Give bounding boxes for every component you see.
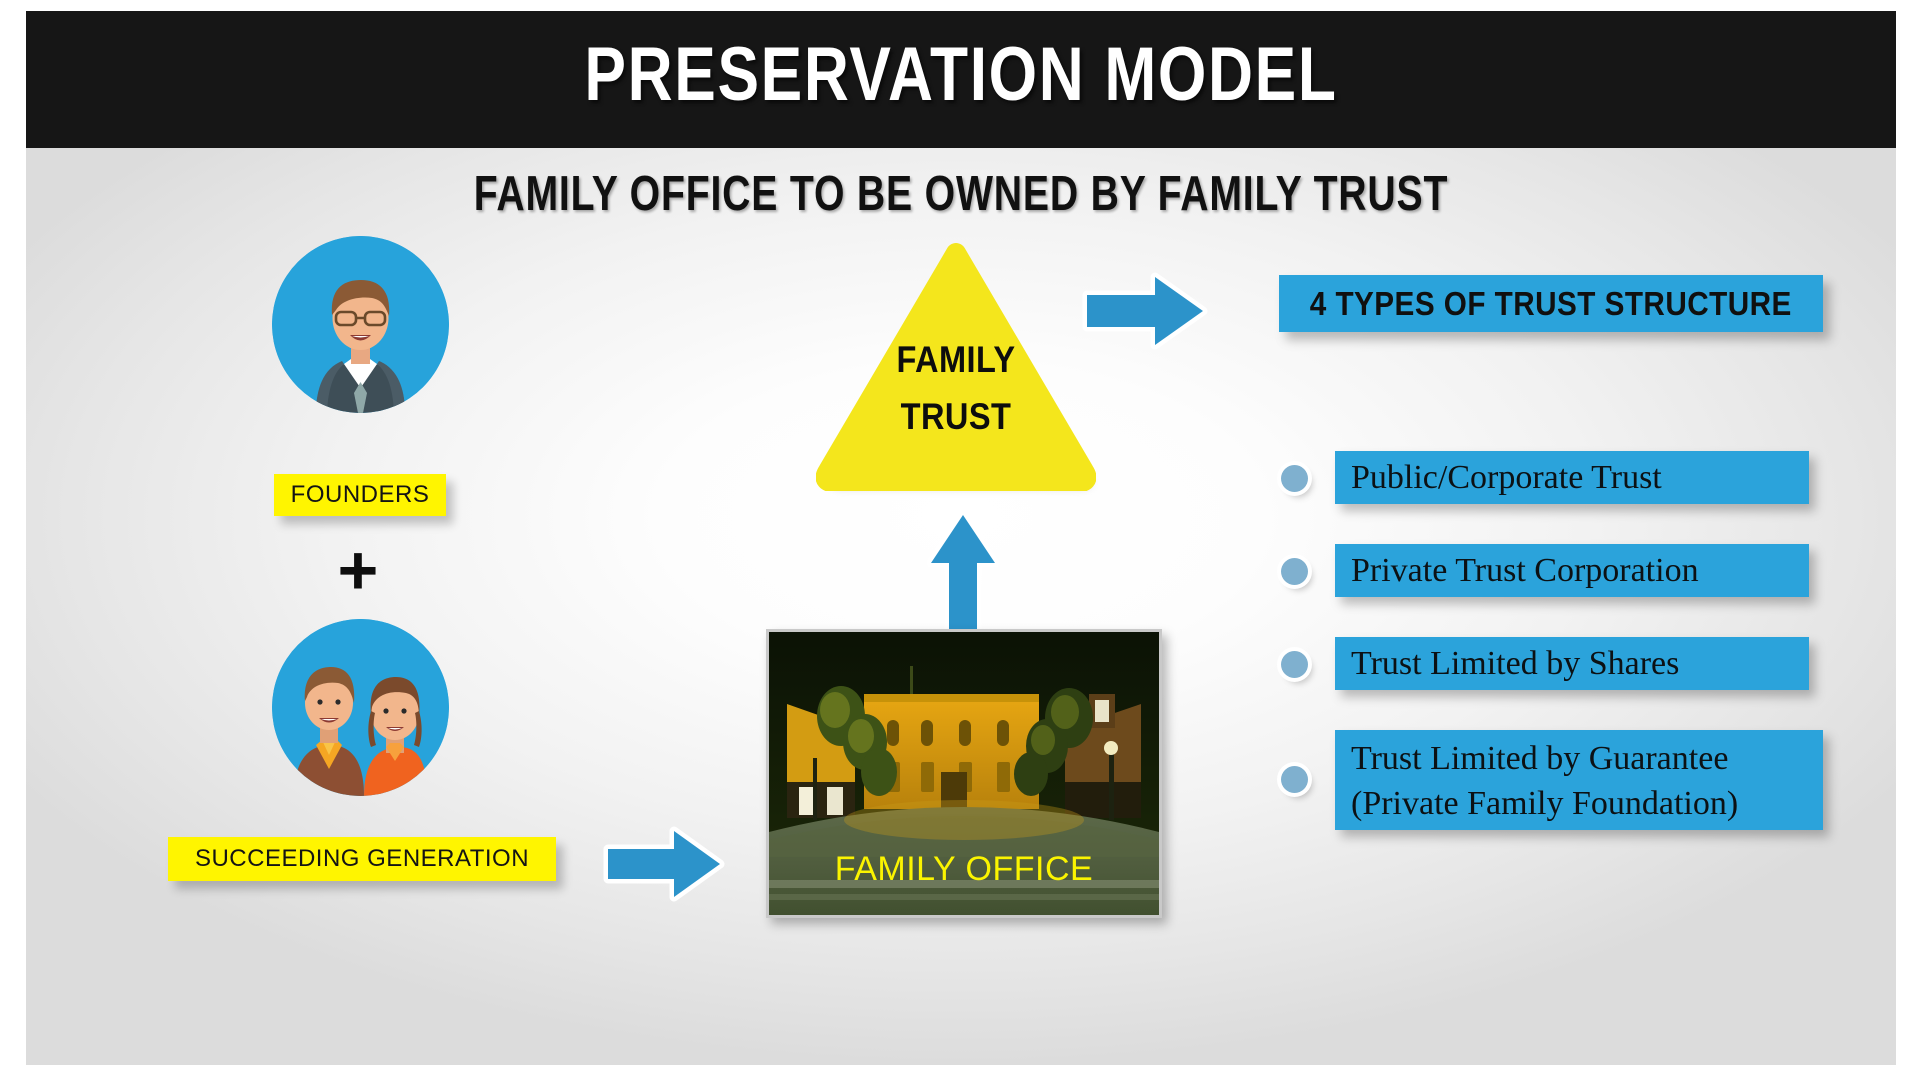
family-trust-line2: TRUST <box>833 388 1079 445</box>
trust-structure-header-text: 4 TYPES OF TRUST STRUCTURE <box>1310 285 1792 323</box>
bullet-icon <box>1281 766 1308 793</box>
trust-type-bar[interactable]: Public/Corporate Trust <box>1335 451 1809 504</box>
arrow-right-icon <box>1081 269 1211 353</box>
arrow-up-svg <box>924 509 1002 637</box>
young-couple-avatar-icon <box>272 619 449 796</box>
trust-type-label-line2: (Private Family Foundation) <box>1351 785 1738 822</box>
arrow-right-bottom-svg <box>602 823 728 905</box>
succeeding-generation-label-text: SUCCEEDING GENERATION <box>195 845 529 873</box>
family-trust-text: FAMILY TRUST <box>833 331 1079 445</box>
bullet-icon <box>1281 558 1308 585</box>
arrow-right-top-svg <box>1081 269 1211 353</box>
trust-type-bar[interactable]: Trust Limited by Guarantee (Private Fami… <box>1335 730 1823 830</box>
trust-type-bar[interactable]: Trust Limited by Shares <box>1335 637 1809 690</box>
trust-type-label: Trust Limited by Shares <box>1351 641 1679 686</box>
family-trust-shape: FAMILY TRUST <box>816 243 1096 491</box>
trust-type-label-line1: Trust Limited by Guarantee <box>1351 740 1728 777</box>
young-couple-avatar-svg <box>272 619 449 796</box>
arrow-up-icon <box>924 509 1002 637</box>
trust-structure-header: 4 TYPES OF TRUST STRUCTURE <box>1279 275 1823 332</box>
trust-type-label: Private Trust Corporation <box>1351 548 1699 593</box>
page-subtitle: FAMILY OFFICE TO BE OWNED BY FAMILY TRUS… <box>213 166 1709 222</box>
family-office-photo: FAMILY OFFICE <box>766 629 1162 918</box>
businessman-avatar-svg <box>272 236 449 413</box>
trust-type-bar[interactable]: Private Trust Corporation <box>1335 544 1809 597</box>
bullet-icon <box>1281 651 1308 678</box>
plus-operator: + <box>322 536 394 608</box>
arrow-right-icon <box>602 823 728 905</box>
founders-label: FOUNDERS <box>274 474 446 516</box>
founders-label-text: FOUNDERS <box>291 481 430 509</box>
bullet-icon <box>1281 465 1308 492</box>
slide-canvas: PRESERVATION MODEL FAMILY OFFICE TO BE O… <box>26 11 1896 1065</box>
family-office-caption: FAMILY OFFICE <box>769 850 1159 889</box>
family-trust-line1: FAMILY <box>833 331 1079 388</box>
trust-type-label: Public/Corporate Trust <box>1351 455 1662 500</box>
succeeding-generation-label: SUCCEEDING GENERATION <box>168 837 556 881</box>
page-title: PRESERVATION MODEL <box>194 31 1727 118</box>
businessman-avatar-icon <box>272 236 449 413</box>
